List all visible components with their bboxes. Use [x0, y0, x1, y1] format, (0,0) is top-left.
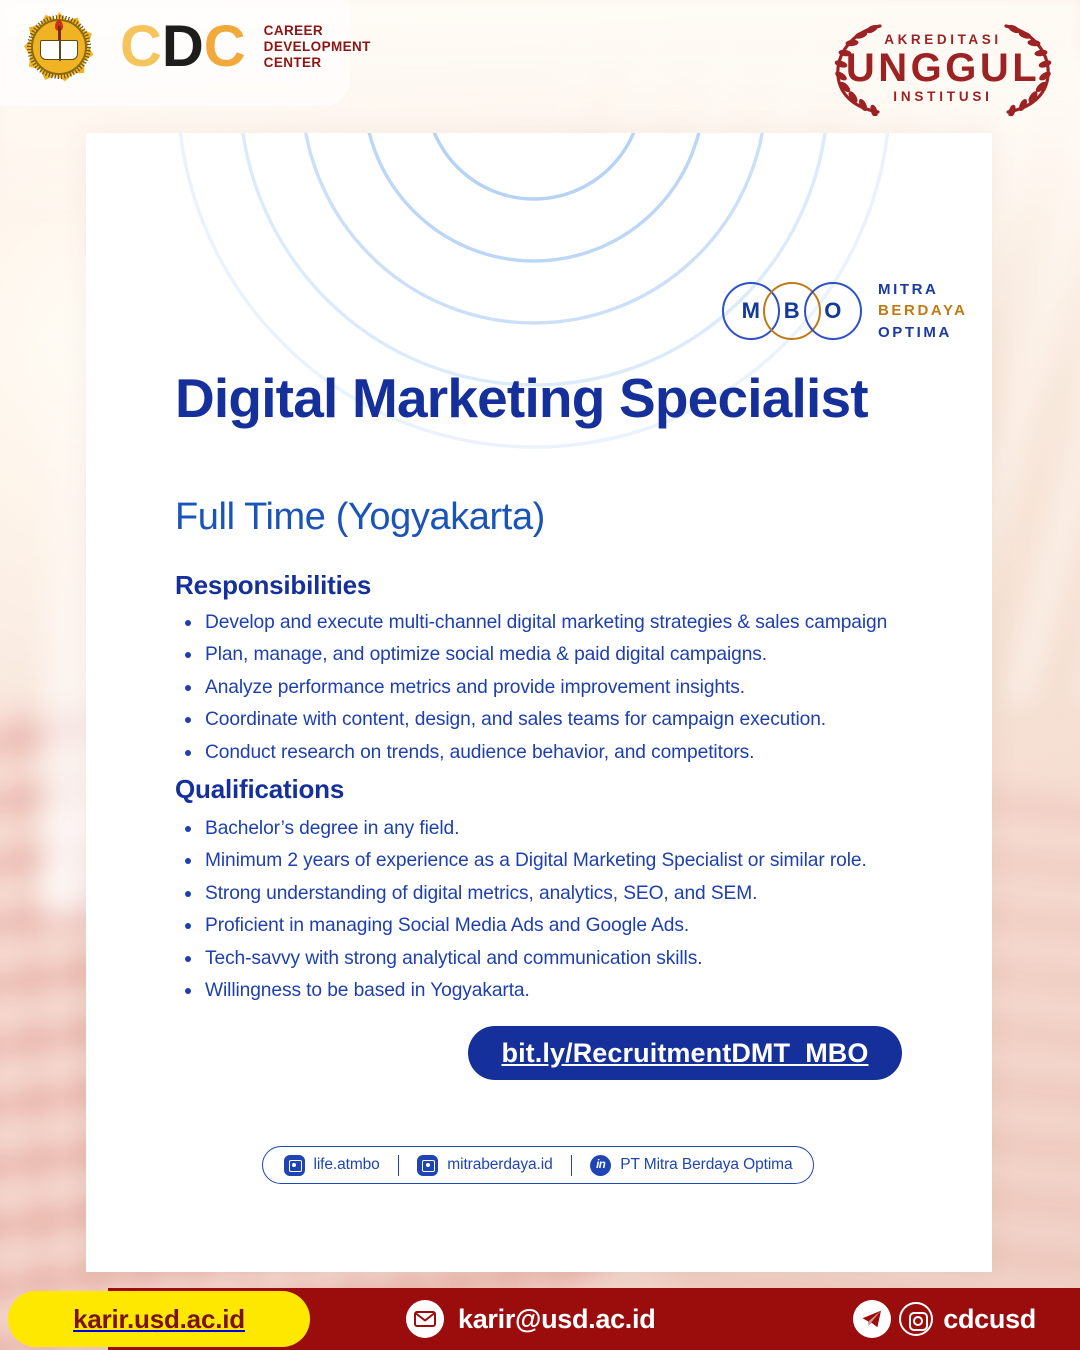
social-handle-label: cdcusd — [943, 1304, 1036, 1335]
list-item: Willingness to be based in Yogyakarta. — [175, 979, 975, 1004]
qualifications-heading: Qualifications — [175, 774, 344, 805]
accreditation-badge: AKREDITASI UNGGUL INSTITUSI — [828, 14, 1058, 122]
cdc-acronym: C D C — [120, 18, 244, 76]
responsibilities-heading: Responsibilities — [175, 570, 371, 601]
telegram-icon — [853, 1300, 891, 1338]
company-name-line-3: OPTIMA — [878, 322, 968, 343]
website-label: karir.usd.ac.id — [73, 1304, 245, 1335]
responsibilities-list: Develop and execute multi-channel digita… — [175, 611, 975, 773]
mbo-letter-o: O — [804, 282, 862, 340]
list-item: Develop and execute multi-channel digita… — [175, 611, 975, 636]
social-item-instagram-mitraberdaya[interactable]: mitraberdaya.id — [399, 1155, 570, 1176]
mbo-mark-icon: M B O — [722, 282, 862, 340]
instagram-icon — [417, 1155, 438, 1176]
footer-social[interactable]: cdcusd — [853, 1288, 1036, 1350]
cdc-letter-d: D — [162, 18, 202, 76]
cdc-letter-c2: C — [204, 18, 244, 76]
job-title: Digital Marketing Specialist — [175, 370, 985, 428]
company-name-line-1: MITRA — [878, 279, 968, 300]
university-seal-icon — [24, 12, 94, 82]
list-item: Conduct research on trends, audience beh… — [175, 741, 975, 766]
instagram-icon — [284, 1155, 305, 1176]
email-label: karir@usd.ac.id — [458, 1304, 655, 1335]
social-label: life.atmbo — [314, 1156, 380, 1174]
poster-card: M B O MITRA BERDAYA OPTIMA Digital Marke… — [86, 133, 992, 1272]
website-pill-button[interactable]: karir.usd.ac.id — [8, 1291, 310, 1347]
instagram-icon — [899, 1302, 933, 1336]
cdc-logo: C D C CAREER DEVELOPMENT CENTER — [0, 0, 350, 106]
cdc-subtitle-line-2: DEVELOPMENT — [264, 39, 371, 55]
company-logo: M B O MITRA BERDAYA OPTIMA — [722, 279, 968, 343]
cdc-subtitle-line-1: CAREER — [264, 23, 371, 39]
company-name: MITRA BERDAYA OPTIMA — [878, 279, 968, 343]
job-type-location: Full Time (Yogyakarta) — [175, 496, 545, 539]
qualifications-list: Bachelor’s degree in any field. Minimum … — [175, 817, 975, 1012]
cdc-letter-c1: C — [120, 18, 160, 76]
company-social-bar: life.atmbo mitraberdaya.id in PT Mitra B… — [262, 1146, 814, 1184]
footer-email[interactable]: karir@usd.ac.id — [406, 1288, 655, 1350]
list-item: Tech-savvy with strong analytical and co… — [175, 947, 975, 972]
list-item: Strong understanding of digital metrics,… — [175, 882, 975, 907]
laurel-wreath-right-icon — [1000, 20, 1056, 116]
list-item: Bachelor’s degree in any field. — [175, 817, 975, 842]
cdc-subtitle-line-3: CENTER — [264, 55, 371, 71]
list-item: Proficient in managing Social Media Ads … — [175, 914, 975, 939]
list-item: Coordinate with content, design, and sal… — [175, 708, 975, 733]
list-item: Plan, manage, and optimize social media … — [175, 643, 975, 668]
social-label: mitraberdaya.id — [447, 1156, 552, 1174]
cdc-subtitle: CAREER DEVELOPMENT CENTER — [264, 23, 371, 71]
apply-link-button[interactable]: bit.ly/RecruitmentDMT_MBO — [468, 1026, 902, 1080]
linkedin-icon: in — [590, 1155, 611, 1176]
list-item: Analyze performance metrics and provide … — [175, 676, 975, 701]
envelope-icon — [406, 1300, 444, 1338]
social-label: PT Mitra Berdaya Optima — [620, 1156, 792, 1174]
list-item: Minimum 2 years of experience as a Digit… — [175, 849, 975, 874]
social-item-instagram-life-atmbo[interactable]: life.atmbo — [266, 1155, 398, 1176]
social-item-linkedin[interactable]: in PT Mitra Berdaya Optima — [572, 1155, 810, 1176]
poster-footer: karir.usd.ac.id karir@usd.ac.id cdcusd — [0, 1288, 1080, 1350]
laurel-wreath-left-icon — [830, 20, 886, 116]
company-name-line-2: BERDAYA — [878, 300, 968, 321]
